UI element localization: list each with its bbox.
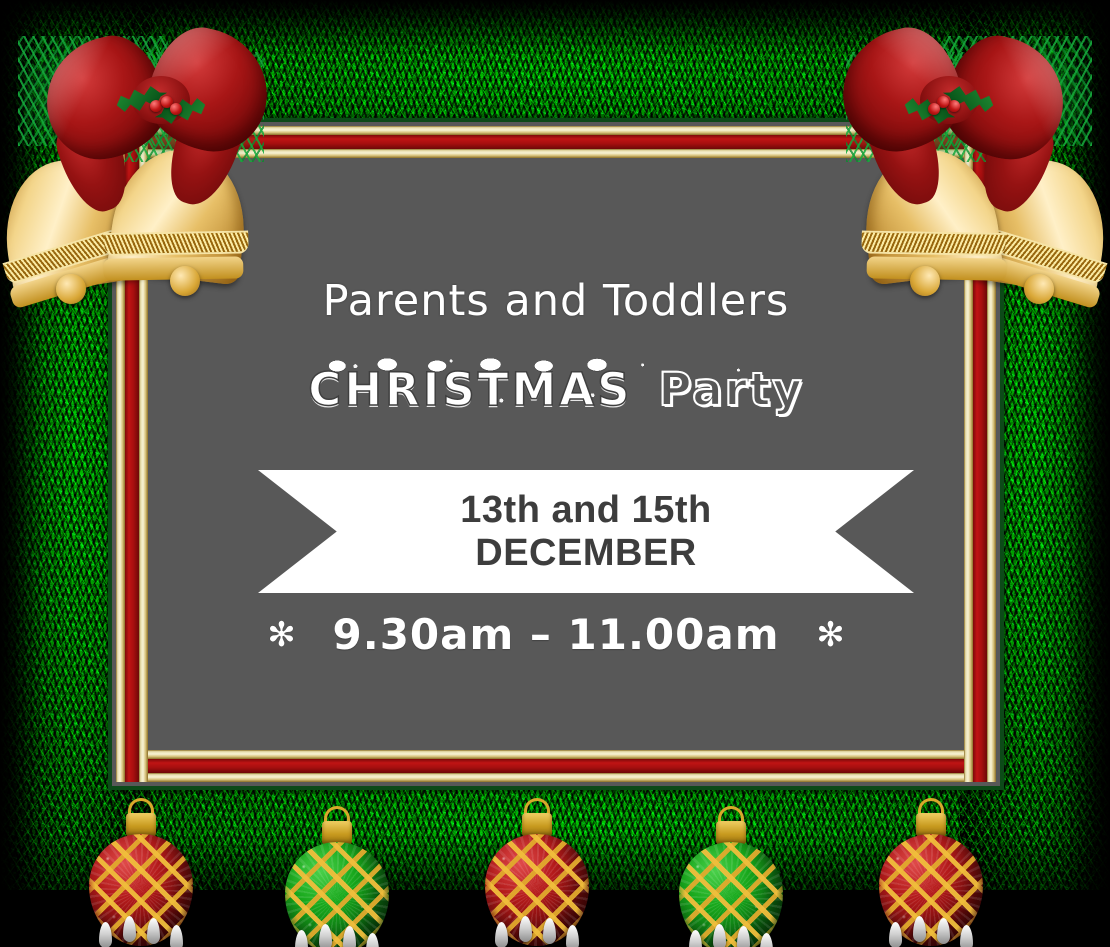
ornament-drop (889, 922, 902, 947)
time-row: ✻ 9.30am – 11.00am ✻ (148, 610, 964, 659)
snowflake-icon-right: ✻ (813, 618, 847, 652)
bauble-row (0, 798, 1110, 947)
ornament-dangles (97, 916, 185, 947)
subtitle-row: CHRISTMAS Party (148, 363, 964, 416)
corner-decoration-left (0, 10, 324, 310)
date-line-2: DECEMBER (475, 532, 696, 575)
party-word: Party (659, 363, 804, 416)
bauble-ornament (672, 806, 790, 947)
ribbon-bow-icon (46, 24, 276, 184)
ornament-drop (123, 916, 136, 942)
frame-stripe-red-bottom (116, 759, 996, 773)
ornament-drop (495, 922, 508, 947)
ornament-drop (543, 918, 556, 944)
berry (170, 103, 182, 115)
ribbon-bow-icon (834, 24, 1064, 184)
bell-clapper-icon (170, 266, 200, 296)
berry (948, 100, 960, 112)
bell-clapper-icon (1024, 274, 1054, 304)
ornament-drop (519, 916, 532, 942)
holly-berries-icon (926, 96, 960, 118)
christmas-poster: Parents and Toddlers CHRISTMAS Party 13t… (0, 0, 1110, 947)
ornament-dangles (493, 916, 581, 947)
ornament-drop (760, 933, 773, 947)
date-line-1: 13th and 15th (460, 489, 711, 532)
ornament-drop (913, 916, 926, 942)
ornament-drop (99, 922, 112, 947)
ornament-dangles (687, 924, 775, 947)
ornament-dangles (887, 916, 975, 947)
bell-clapper-icon (910, 266, 940, 296)
ornament-drop (295, 930, 308, 947)
ornament-drop (566, 925, 579, 947)
ornament-drop (170, 925, 183, 947)
snowflake-icon-left: ✻ (265, 618, 299, 652)
bauble-ornament (872, 798, 990, 947)
event-time: 9.30am – 11.00am (333, 610, 780, 659)
corner-decoration-right (786, 10, 1110, 310)
bauble-ornament (278, 806, 396, 947)
christmas-word-label: CHRISTMAS (308, 363, 632, 416)
frame-stripe-gold-bottom2 (116, 750, 996, 759)
berry (928, 103, 940, 115)
ornament-dangles (293, 924, 381, 947)
ornament-drop (937, 918, 950, 944)
ornament-drop (960, 925, 973, 947)
ornament-drop (713, 924, 726, 947)
holly-berries-icon (150, 96, 184, 118)
ornament-drop (737, 926, 750, 947)
ornament-drop (319, 924, 332, 947)
ornament-drop (366, 933, 379, 947)
frame-stripe-gold-bottom (116, 773, 996, 782)
bauble-ornament (82, 798, 200, 947)
ornament-drop (689, 930, 702, 947)
date-banner: 13th and 15th DECEMBER (258, 470, 914, 593)
ornament-drop (147, 918, 160, 944)
christmas-word: CHRISTMAS (308, 363, 632, 416)
ornament-drop (343, 926, 356, 947)
bell-clapper-icon (56, 274, 86, 304)
bauble-ornament (478, 798, 596, 947)
